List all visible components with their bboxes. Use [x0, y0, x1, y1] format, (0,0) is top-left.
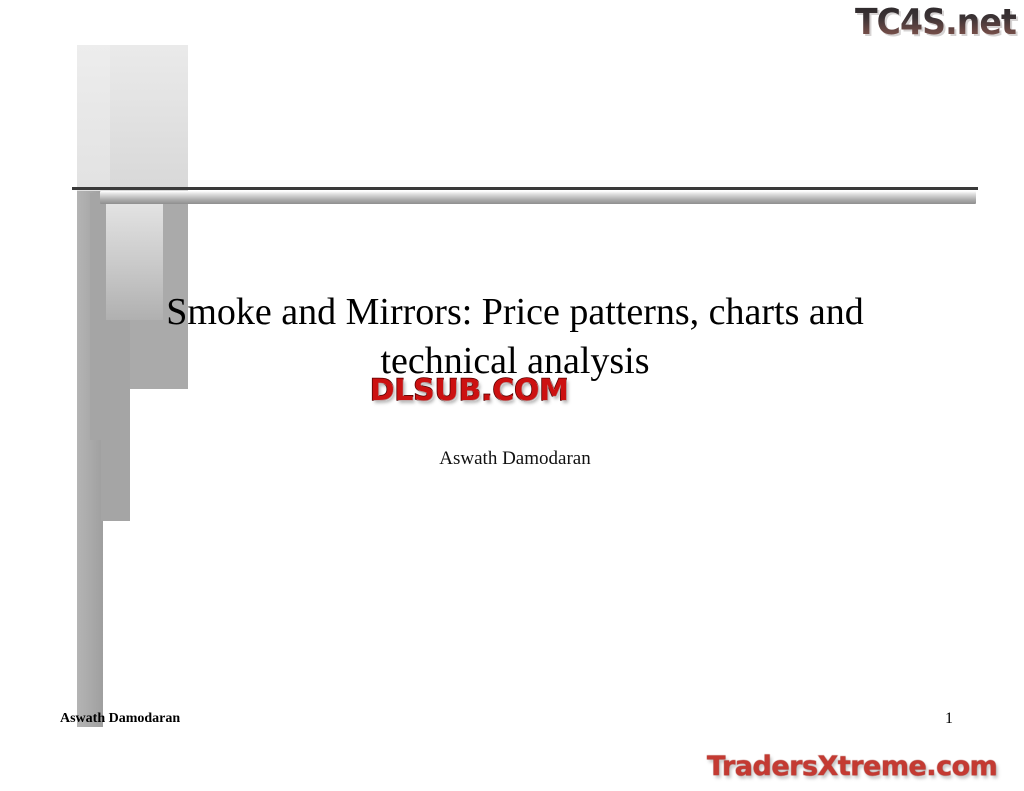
decorative-panel-top-inner [77, 45, 110, 191]
slide-title: Smoke and Mirrors: Price patterns, chart… [150, 288, 880, 385]
tc4s-watermark: TC4S.net [855, 2, 1016, 43]
decorative-narrow-bar-lower [101, 388, 130, 521]
dlsub-watermark: DLSUB.COM [370, 373, 569, 407]
slide-author: Aswath Damodaran [150, 448, 880, 470]
slide-canvas: Smoke and Mirrors: Price patterns, chart… [0, 0, 1024, 791]
decorative-horizontal-bar [100, 191, 976, 204]
decorative-horizontal-rule [72, 187, 978, 190]
page-number: 1 [945, 710, 953, 728]
tradersxtreme-watermark: TradersXtreme.com [707, 751, 997, 782]
footer-author: Aswath Damodaran [60, 711, 180, 727]
